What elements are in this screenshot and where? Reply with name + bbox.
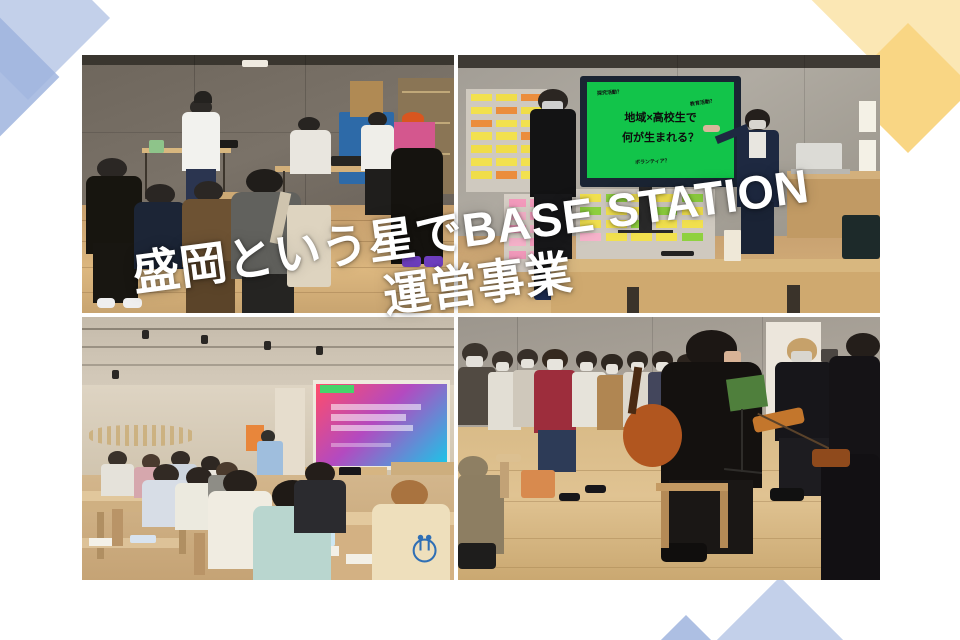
blue-diamond-small-topleft (0, 18, 59, 137)
photo-workshop-tables (82, 55, 454, 313)
photo-chamber-concert (458, 317, 880, 580)
music-stand (726, 375, 768, 412)
photo-highschool-presentation: 探究活動？ 教育活動？ 地域×高校生で 何が生まれる？ ボランティア？ (458, 55, 880, 313)
photo-radio-workshop (82, 317, 454, 580)
blue-diamond-large-bottomright (667, 577, 893, 640)
slide-canvas: 探究活動？ 教育活動？ 地域×高校生で 何が生まれる？ ボランティア？ (0, 0, 960, 640)
photo-collage: 探究活動？ 教育活動？ 地域×高校生で 何が生まれる？ ボランティア？ (82, 55, 880, 580)
screen-headline-line1: 地域×高校生で (589, 112, 732, 126)
blue-diamond-small-bottomright (621, 615, 751, 640)
screen-headline-line2: 何が生まれる？ (589, 132, 732, 146)
tshirt-logo (406, 530, 443, 564)
